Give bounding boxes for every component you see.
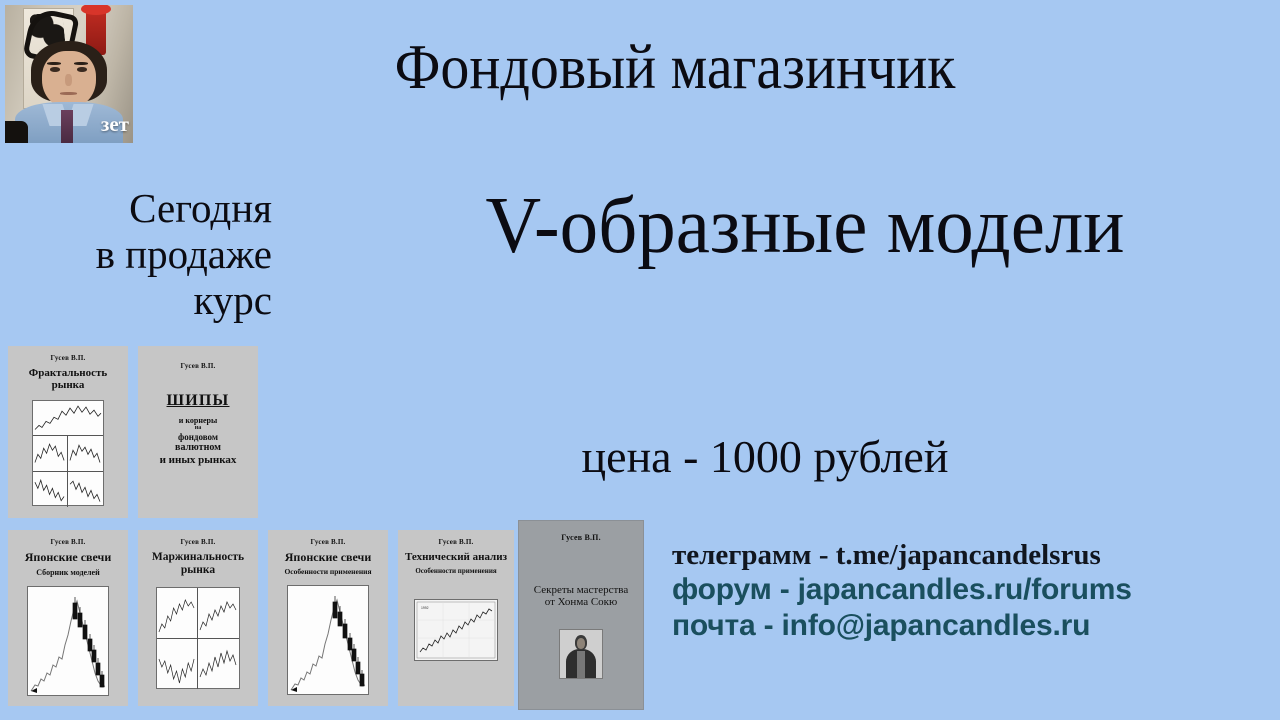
book-author: Гусев В.П. bbox=[8, 538, 128, 546]
contact-email[interactable]: почта - info@japancandles.ru bbox=[672, 608, 1272, 643]
contact-forum[interactable]: форум - japancandles.ru/forums bbox=[672, 572, 1272, 607]
presenter-photo: зет bbox=[5, 5, 133, 143]
book-figure-chart-rising: 1992 bbox=[414, 599, 498, 661]
book-title-line1: Японские свечи bbox=[8, 551, 128, 564]
book-cover-yaponskie-svechi-osobennosti[interactable]: Гусев В.П. Японские свечи Особенности пр… bbox=[268, 530, 388, 706]
book-title-line2: рынка bbox=[138, 564, 258, 577]
portrait-robe bbox=[577, 651, 585, 678]
book-cover-marzhinalnost[interactable]: Гусев В.П. Маржинальность рынка bbox=[138, 530, 258, 706]
book-title-line1: ШИПЫ bbox=[138, 392, 258, 410]
book-figure-chart-grid-4 bbox=[156, 587, 240, 689]
book-figure-candles-peak bbox=[27, 586, 109, 696]
presenter-brow-left bbox=[47, 62, 61, 65]
course-title: V-образные модели bbox=[392, 185, 1219, 266]
photo-corner-shadow bbox=[5, 121, 28, 143]
book-cover-tehnicheskiy-analiz[interactable]: Гусев В.П. Технический анализ Особенност… bbox=[398, 530, 514, 706]
contact-telegram[interactable]: телеграмм - t.me/japancandelsrus bbox=[672, 538, 1272, 572]
slide-canvas: зет Фондовый магазинчик V-образные модел… bbox=[0, 0, 1280, 720]
book-cover-fraktalnost[interactable]: Гусев В.П. Фрактальность рынка bbox=[8, 346, 128, 518]
book-title-line1: Маржинальность bbox=[138, 551, 258, 564]
book-subtitle-lines: и корнеры на фондовом валютном и иных ры… bbox=[138, 416, 258, 467]
book-title-line2: от Хонма Сокю bbox=[519, 596, 643, 608]
book-author: Гусев В.П. bbox=[268, 538, 388, 546]
book-title-line1: Технический анализ bbox=[398, 551, 514, 563]
presenter-mouth bbox=[60, 92, 77, 95]
book-sub-line-5: и иных рынках bbox=[138, 454, 258, 467]
book-title-line1: Фрактальность bbox=[8, 367, 128, 379]
book-figure-chart-grid-3 bbox=[32, 400, 104, 506]
book-cover-shipy[interactable]: Гусев В.П. ШИПЫ и корнеры на фондовом ва… bbox=[138, 346, 258, 518]
book-title-line1: Японские свечи bbox=[268, 551, 388, 564]
book-subtitle: Сборник моделей bbox=[8, 568, 128, 577]
book-author: Гусев В.П. bbox=[519, 533, 643, 542]
book-author: Гусев В.П. bbox=[398, 538, 514, 546]
presenter-eye-left bbox=[50, 67, 60, 72]
book-author: Гусев В.П. bbox=[138, 538, 258, 546]
promo-line-3: курс bbox=[0, 278, 278, 324]
book-figure-candles-peak bbox=[287, 585, 369, 695]
book-subtitle: Особенности применения bbox=[268, 568, 388, 577]
book-subtitle: Особенности применения bbox=[398, 567, 514, 575]
promo-text: Сегодня в продаже курс bbox=[0, 186, 278, 324]
presenter-brow-right bbox=[74, 62, 88, 65]
promo-line-1: Сегодня bbox=[0, 186, 278, 232]
portrait-face bbox=[577, 638, 585, 649]
presenter-nose bbox=[65, 74, 71, 86]
book-title-line1: Секреты мастерства bbox=[519, 584, 643, 596]
contact-block: телеграмм - t.me/japancandelsrus форум -… bbox=[672, 538, 1272, 643]
presenter-eye-right bbox=[77, 67, 87, 72]
book-sub-line-3: фондовом bbox=[138, 432, 258, 442]
book-figure-portrait bbox=[559, 629, 603, 679]
book-cover-sekrety-masterstva[interactable]: Гусев В.П. Секреты мастерства от Хонма С… bbox=[518, 520, 644, 710]
presenter-tie bbox=[61, 110, 73, 143]
book-sub-line-1: и корнеры bbox=[138, 416, 258, 425]
book-title-line2: рынка bbox=[8, 379, 128, 391]
book-sub-line-4: валютном bbox=[138, 442, 258, 454]
book-cover-yaponskie-svechi-sbornik[interactable]: Гусев В.П. Японские свечи Сборник моделе… bbox=[8, 530, 128, 706]
book-author: Гусев В.П. bbox=[138, 362, 258, 370]
price-label: цена - 1000 рублей bbox=[455, 434, 1075, 480]
book-sub-line-2: на bbox=[138, 425, 258, 432]
svg-text:1992: 1992 bbox=[421, 606, 429, 610]
promo-line-2: в продаже bbox=[0, 232, 278, 278]
site-title: Фондовый магазинчик bbox=[289, 36, 1062, 99]
book-author: Гусев В.П. bbox=[8, 354, 128, 362]
avatar-watermark: зет bbox=[101, 112, 129, 137]
